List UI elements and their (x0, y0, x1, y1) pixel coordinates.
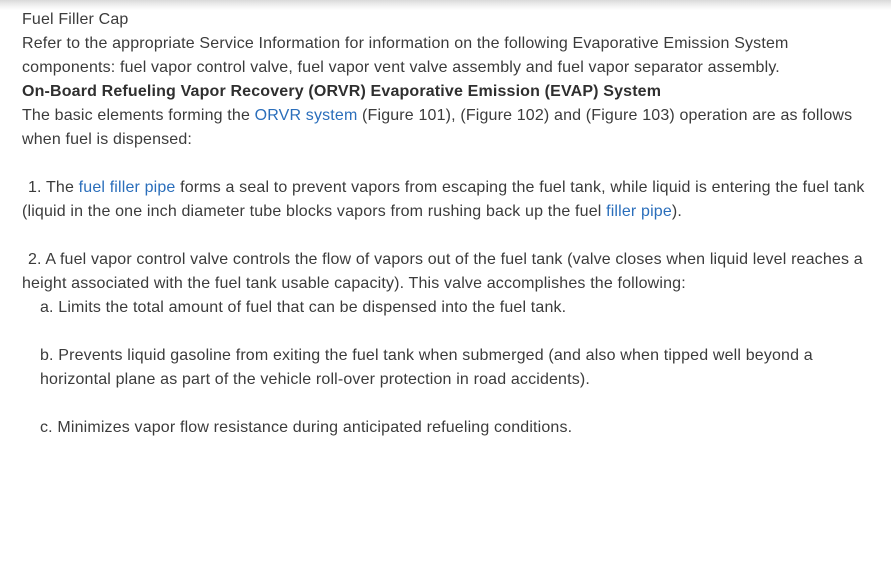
list-item-1-seg-0: The (42, 179, 79, 196)
sub-item-a: a. Limits the total amount of fuel that … (22, 296, 869, 320)
spacer (22, 224, 869, 248)
list-item-1-seg-4: ). (672, 203, 682, 220)
sub-item-b: b. Prevents liquid gasoline from exiting… (22, 344, 869, 392)
sub-item-b-text: Prevents liquid gasoline from exiting th… (40, 347, 813, 388)
filler-pipe-link[interactable]: filler pipe (606, 203, 672, 220)
lead-in-paragraph: The basic elements forming the ORVR syst… (22, 104, 869, 152)
list-item-2-text: A fuel vapor control valve controls the … (22, 251, 863, 292)
section-heading: On-Board Refueling Vapor Recovery (ORVR)… (22, 80, 869, 104)
spacer (22, 152, 869, 176)
page-title: Fuel Filler Cap (22, 8, 869, 32)
spacer (22, 392, 869, 416)
sub-item-a-marker: a. (40, 299, 54, 316)
sub-item-c-marker: c. (40, 419, 53, 436)
spacer (22, 320, 869, 344)
list-item-2-marker: 2. (28, 251, 42, 268)
lead-in-before-text: The basic elements forming the (22, 107, 255, 124)
document-body: Fuel Filler Cap Refer to the appropriate… (0, 0, 891, 440)
orvr-system-link[interactable]: ORVR system (255, 107, 358, 124)
sub-item-a-text: Limits the total amount of fuel that can… (54, 299, 567, 316)
fuel-filler-pipe-link[interactable]: fuel filler pipe (79, 179, 176, 196)
list-item-1-marker: 1. (28, 179, 42, 196)
list-item-1: 1. The fuel filler pipe forms a seal to … (22, 176, 869, 224)
sub-item-c-text: Minimizes vapor flow resistance during a… (53, 419, 573, 436)
sub-item-b-marker: b. (40, 347, 54, 364)
sub-item-c: c. Minimizes vapor flow resistance durin… (22, 416, 869, 440)
list-item-2: 2. A fuel vapor control valve controls t… (22, 248, 869, 296)
intro-paragraph: Refer to the appropriate Service Informa… (22, 32, 869, 80)
